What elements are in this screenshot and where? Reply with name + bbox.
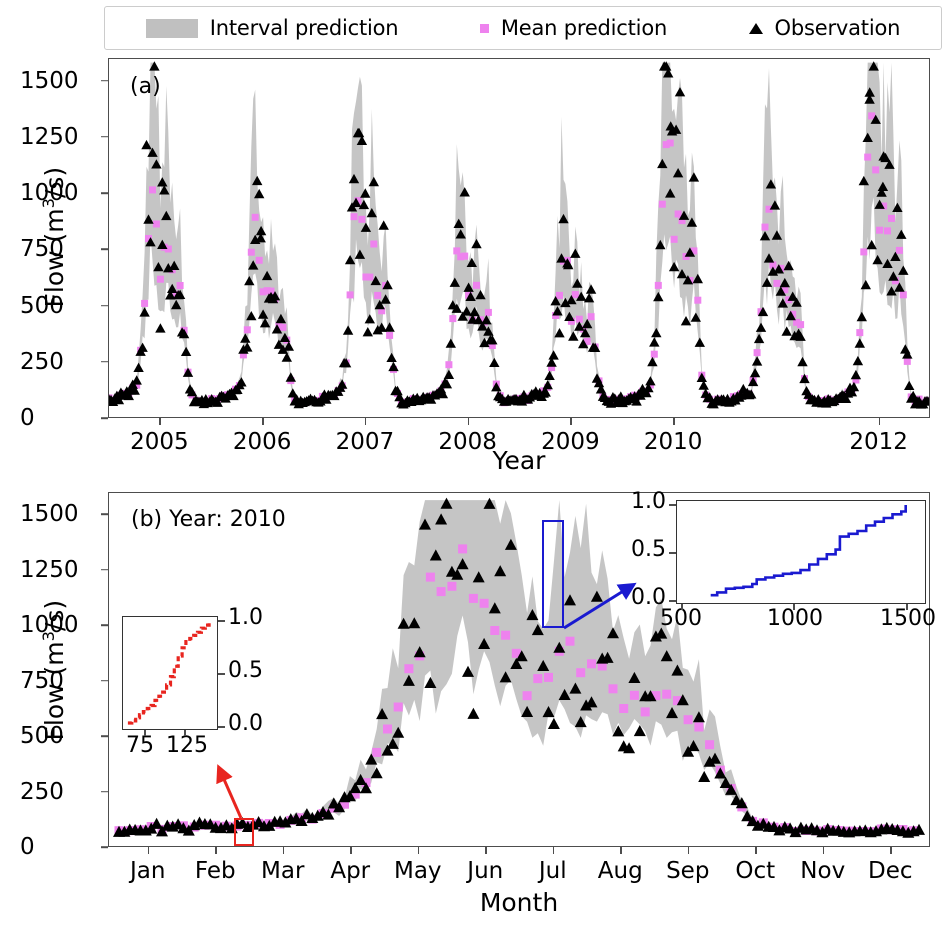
mean-prediction-markers [109, 112, 929, 407]
red-inset-y-tick-mark [218, 726, 225, 728]
y-tick-mark [101, 513, 108, 515]
red-highlight-rect [234, 818, 254, 846]
blue-inset-y-tick-label: 0.5 [610, 537, 666, 562]
band-swatch-icon [146, 19, 198, 38]
y-tick-mark [101, 569, 108, 571]
y-tick-label: 250 [20, 779, 100, 805]
x-tick-mark [755, 847, 757, 854]
y-tick-label: 1500 [20, 68, 100, 94]
y-tick-label: 250 [20, 349, 100, 375]
x-tick-mark [262, 418, 264, 425]
observation-markers [109, 61, 929, 408]
red-inset-y-tick-label: 0.0 [228, 711, 263, 736]
y-tick-mark [101, 248, 108, 250]
panel-a-y-axis-label: Flow (m3/s) [39, 137, 69, 337]
x-tick-label: Dec [868, 858, 913, 884]
panel-a-plot-area [108, 58, 930, 418]
panel-b-annotation: (b) Year: 2010 [131, 507, 286, 532]
x-tick-label: 2009 [541, 429, 600, 455]
x-tick-label: Mar [261, 858, 304, 884]
x-tick-label: Sep [666, 858, 709, 884]
x-tick-mark [418, 847, 420, 854]
y-tick-label: 0 [20, 405, 100, 431]
red-inset-x-tick-mark [184, 730, 186, 736]
x-tick-label: Jul [539, 858, 567, 884]
y-tick-mark [101, 417, 108, 419]
y-tick-mark [101, 680, 108, 682]
x-tick-label: 2012 [849, 429, 908, 455]
x-tick-mark [365, 418, 367, 425]
panel-a-annotation: (a) [130, 74, 161, 99]
blue-inset-x-tick-mark [681, 604, 683, 610]
blue-inset-x-tick-mark [906, 604, 908, 610]
x-tick-mark [553, 847, 555, 854]
y-tick-mark [101, 624, 108, 626]
triangle-marker-icon [749, 23, 763, 34]
x-tick-mark [620, 847, 622, 854]
y-tick-mark [101, 735, 108, 737]
interval-prediction-band [109, 63, 929, 405]
x-tick-label: May [394, 858, 442, 884]
blue-inset-y-tick-label: 1.0 [610, 489, 666, 514]
red-inset-x-tick-label: 125 [166, 733, 208, 758]
y-tick-mark [101, 136, 108, 138]
x-tick-mark [879, 418, 881, 425]
x-tick-mark [350, 847, 352, 854]
y-tick-mark [101, 305, 108, 307]
y-tick-mark [101, 80, 108, 82]
x-tick-label: Jun [467, 858, 503, 884]
legend-label-interval-prediction: Interval prediction [210, 16, 399, 40]
legend-label-observation: Observation [775, 16, 901, 40]
x-tick-mark [148, 847, 150, 854]
panel-a-canvas [109, 59, 929, 417]
x-tick-label: 2006 [233, 429, 292, 455]
chart-legend: Interval prediction Mean prediction Obse… [104, 6, 942, 50]
x-tick-label: 2008 [438, 429, 497, 455]
red-cdf-inset-canvas [123, 617, 216, 728]
cdf-step-line [128, 621, 209, 723]
x-tick-label: Apr [330, 858, 370, 884]
x-tick-mark [159, 418, 161, 425]
x-tick-mark [890, 847, 892, 854]
x-tick-label: Aug [598, 858, 643, 884]
red-inset-y-tick-label: 1.0 [228, 605, 263, 630]
blue-inset-y-tick-mark [669, 600, 676, 602]
x-tick-mark [673, 418, 675, 425]
legend-item-interval-prediction: Interval prediction [146, 16, 399, 40]
x-tick-label: 2007 [336, 429, 395, 455]
x-tick-label: Nov [800, 858, 845, 884]
legend-label-mean-prediction: Mean prediction [501, 16, 667, 40]
panel-b-y-axis-label: Flow (m3/s) [39, 570, 69, 770]
figure-root: Interval prediction Mean prediction Obse… [0, 0, 944, 925]
panel-b-x-axis-label: Month [480, 888, 558, 917]
panel-a-x-axis-label: Year [493, 446, 546, 475]
square-marker-icon [480, 24, 489, 33]
red-inset-y-tick-mark [218, 620, 225, 622]
x-tick-mark [688, 847, 690, 854]
x-tick-mark [215, 847, 217, 854]
red-cdf-inset-axes [122, 616, 218, 730]
x-tick-label: 2010 [644, 429, 703, 455]
cdf-step-line [711, 505, 906, 595]
red-inset-x-tick-mark [144, 730, 146, 736]
legend-item-observation: Observation [749, 16, 901, 40]
blue-inset-y-tick-mark [669, 552, 676, 554]
x-tick-mark [468, 418, 470, 425]
x-tick-label: Jan [130, 858, 165, 884]
x-tick-mark [485, 847, 487, 854]
x-tick-label: Feb [195, 858, 236, 884]
legend-item-mean-prediction: Mean prediction [480, 16, 667, 40]
red-inset-y-tick-label: 0.5 [228, 658, 263, 683]
x-tick-mark [283, 847, 285, 854]
blue-cdf-inset-axes [676, 500, 926, 604]
blue-highlight-rect [542, 520, 564, 628]
y-tick-mark [101, 192, 108, 194]
y-tick-label: 0 [20, 834, 100, 860]
blue-cdf-inset-canvas [677, 501, 924, 602]
red-inset-x-tick-label: 75 [126, 733, 154, 758]
x-tick-mark [823, 847, 825, 854]
x-tick-label: Oct [735, 858, 775, 884]
red-inset-y-tick-mark [218, 673, 225, 675]
y-tick-mark [101, 361, 108, 363]
x-tick-label: 2005 [130, 429, 189, 455]
y-tick-mark [101, 791, 108, 793]
x-tick-mark [570, 418, 572, 425]
blue-inset-x-tick-mark [793, 604, 795, 610]
blue-inset-y-tick-mark [669, 504, 676, 506]
y-tick-mark [101, 846, 108, 848]
y-tick-label: 1500 [20, 501, 100, 527]
